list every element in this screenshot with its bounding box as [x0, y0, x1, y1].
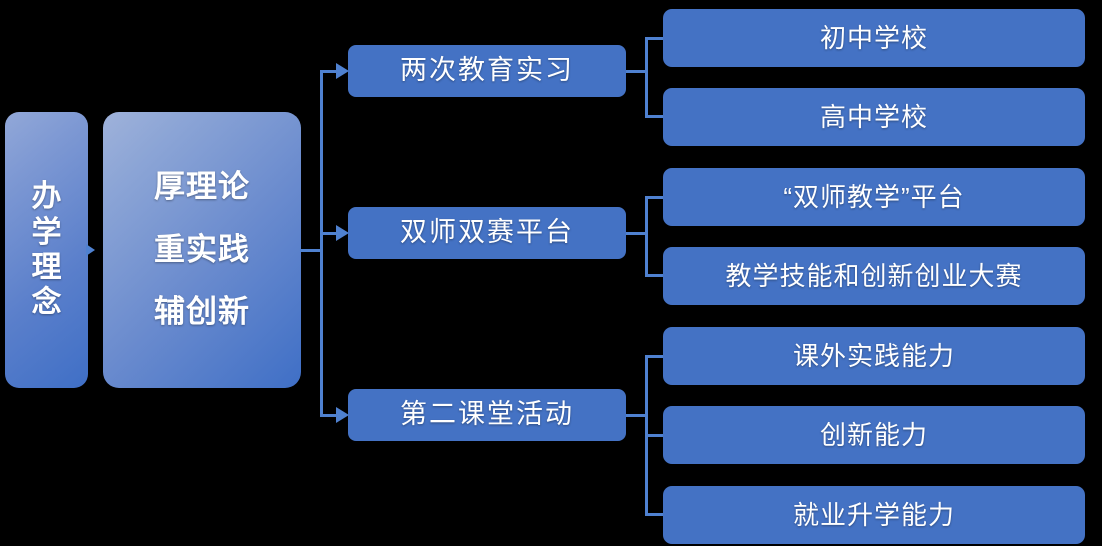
arrow-root-to-primary — [86, 244, 95, 256]
connector-branch-2-leaf-1 — [645, 434, 665, 437]
node-primary-line-1: 重实践 — [154, 231, 250, 270]
node-primary[interactable]: 厚理论 重实践 辅创新 — [103, 112, 301, 388]
connector-branch-0-trunk — [645, 37, 648, 117]
connector-branch-2-leaf-2 — [645, 513, 665, 516]
node-root-char-2: 理 — [32, 250, 62, 285]
node-leaf-2-0[interactable]: 课外实践能力 — [663, 327, 1085, 385]
connector-branch-1-leaf-1 — [645, 274, 665, 277]
node-primary-line-2: 辅创新 — [154, 293, 250, 332]
node-branch-2[interactable]: 第二课堂活动 — [348, 389, 626, 441]
node-leaf-0-0[interactable]: 初中学校 — [663, 9, 1085, 67]
node-leaf-2-1[interactable]: 创新能力 — [663, 406, 1085, 464]
node-leaf-1-1-label: 教学技能和创新创业大赛 — [725, 260, 1022, 293]
node-root-char-0: 办 — [32, 179, 62, 214]
node-branch-0-label: 两次教育实习 — [400, 54, 574, 88]
node-leaf-0-0-label: 初中学校 — [820, 22, 928, 55]
node-leaf-0-1-label: 高中学校 — [820, 101, 928, 134]
node-leaf-2-1-label: 创新能力 — [820, 419, 928, 452]
connector-branch-1-trunk — [645, 196, 648, 276]
node-branch-1[interactable]: 双师双赛平台 — [348, 207, 626, 259]
connector-branch-2-leaf-0 — [645, 355, 665, 358]
connector-primary-trunk — [320, 70, 323, 417]
node-leaf-2-2-label: 就业升学能力 — [793, 499, 955, 532]
node-leaf-1-0-label: “双师教学”平台 — [783, 181, 964, 214]
connector-branch-0-leaf-0 — [645, 37, 665, 40]
diagram-canvas: 办 学 理 念 厚理论 重实践 辅创新 两次教育实习 双师双赛平台 第二课堂活动 — [0, 0, 1102, 546]
connector-branch-1-leaf-0 — [645, 196, 665, 199]
node-leaf-1-1[interactable]: 教学技能和创新创业大赛 — [663, 247, 1085, 305]
node-leaf-2-2[interactable]: 就业升学能力 — [663, 486, 1085, 544]
node-branch-1-label: 双师双赛平台 — [400, 216, 574, 250]
connector-branch-0-leaf-1 — [645, 115, 665, 118]
node-leaf-1-0[interactable]: “双师教学”平台 — [663, 168, 1085, 226]
node-branch-2-label: 第二课堂活动 — [400, 398, 574, 432]
node-root-label: 办 学 理 念 — [32, 179, 62, 321]
node-root-char-1: 学 — [32, 215, 62, 250]
node-branch-0[interactable]: 两次教育实习 — [348, 45, 626, 97]
node-primary-label: 厚理论 重实践 辅创新 — [154, 168, 250, 332]
node-leaf-2-0-label: 课外实践能力 — [793, 340, 955, 373]
node-primary-line-0: 厚理论 — [154, 168, 250, 207]
node-root[interactable]: 办 学 理 念 — [5, 112, 88, 388]
node-leaf-0-1[interactable]: 高中学校 — [663, 88, 1085, 146]
node-root-char-3: 念 — [32, 285, 62, 320]
